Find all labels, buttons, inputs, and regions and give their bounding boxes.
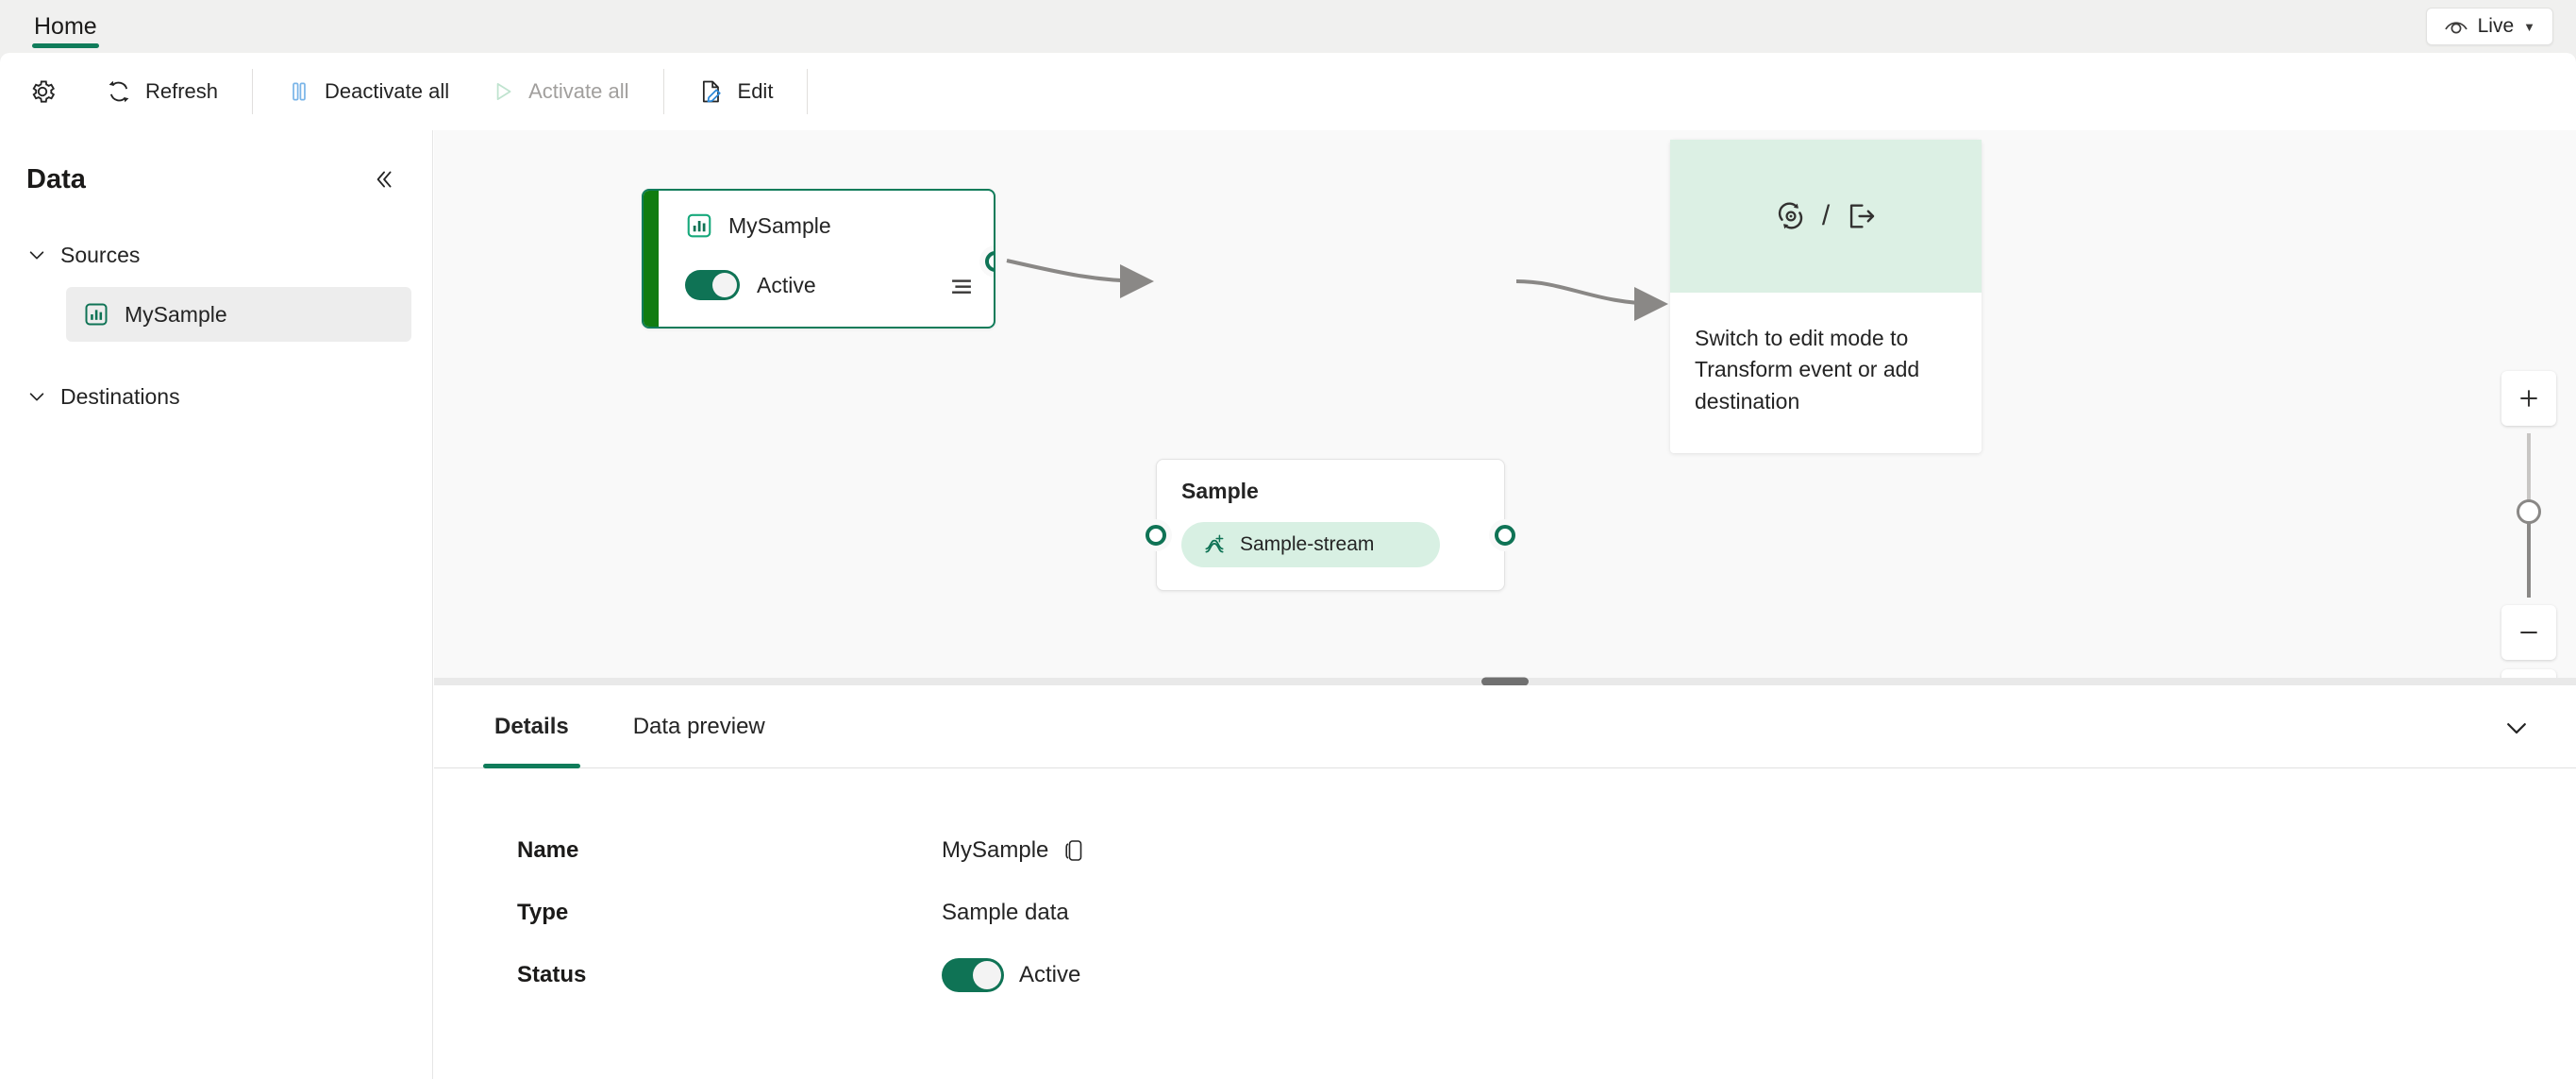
node-placeholder-transform-destination[interactable]: / Switch to edit mode to Transform event… — [1670, 140, 1982, 453]
toggle-knob — [973, 961, 1001, 989]
zoom-out-button[interactable] — [2501, 605, 2556, 660]
copy-icon[interactable] — [1063, 838, 1086, 863]
zoom-slider-thumb[interactable] — [2517, 499, 2541, 524]
detail-value-status-text: Active — [1019, 962, 1080, 988]
node-source-output-port[interactable] — [985, 251, 995, 272]
sample-data-icon — [83, 301, 109, 328]
details-tab-row: Details Data preview — [434, 685, 2576, 768]
detail-row-name: Name MySample — [517, 819, 2576, 882]
chevron-down-icon — [26, 386, 47, 407]
node-stream-output-port[interactable] — [1495, 525, 1515, 546]
chevron-double-left-icon — [371, 167, 395, 192]
body-region: Data Sources — [0, 130, 2576, 1079]
node-source-title-row: MySample — [685, 211, 831, 240]
tab-details-label: Details — [494, 714, 569, 740]
sidebar-item-mysample-label: MySample — [125, 302, 227, 328]
details-field-list: Name MySample Type Sampl — [434, 768, 2576, 1006]
tab-home-label: Home — [34, 13, 97, 41]
destination-icon — [1845, 200, 1877, 232]
zoom-controls — [2501, 371, 2557, 678]
app-root: Home Live ▼ — [0, 0, 2576, 1079]
refresh-label: Refresh — [145, 79, 218, 104]
tab-home[interactable]: Home — [13, 0, 118, 53]
eye-icon — [2444, 17, 2468, 36]
deactivate-all-button[interactable]: Deactivate all — [266, 67, 470, 116]
pause-icon — [287, 79, 311, 104]
node-source-active-toggle[interactable] — [685, 270, 740, 300]
detail-value-name: MySample — [942, 837, 1086, 864]
command-bar-divider-3 — [807, 69, 808, 114]
detail-label-status: Status — [517, 962, 942, 988]
edit-icon — [698, 78, 725, 105]
detail-value-type: Sample data — [942, 900, 1069, 926]
detail-value-name-text: MySample — [942, 837, 1048, 864]
sidebar-title: Data — [26, 164, 86, 195]
tab-data-preview[interactable]: Data preview — [618, 685, 780, 768]
eventstream-canvas[interactable]: MySample Active — [434, 130, 2576, 678]
command-bar-divider-1 — [252, 69, 253, 114]
sidebar-header: Data — [0, 130, 432, 200]
tab-details[interactable]: Details — [479, 685, 584, 768]
sidebar-item-mysample[interactable]: MySample — [66, 287, 411, 342]
node-placeholder-icon-area: / — [1670, 140, 1982, 293]
details-collapse-button[interactable] — [2495, 706, 2538, 750]
command-bar-divider-2 — [663, 69, 664, 114]
transform-icon — [1775, 200, 1807, 232]
tab-data-preview-label: Data preview — [633, 714, 765, 740]
node-source-status-row: Active — [685, 270, 816, 300]
sidebar-group-sources[interactable]: Sources — [0, 232, 432, 278]
live-mode-button[interactable]: Live ▼ — [2426, 8, 2553, 45]
node-source-status-label: Active — [757, 273, 816, 298]
detail-row-type: Type Sample data — [517, 882, 2576, 944]
sidebar-collapse-button[interactable] — [362, 159, 404, 200]
zoom-slider[interactable] — [2501, 426, 2556, 605]
command-bar: Refresh Deactivate all Activate all — [0, 53, 2576, 130]
zoom-in-button[interactable] — [2501, 371, 2556, 426]
node-placeholder-separator: / — [1822, 200, 1830, 232]
tab-strip: Home Live ▼ — [0, 0, 2576, 53]
zoom-slider-track-lower — [2527, 520, 2531, 598]
plus-icon — [2517, 386, 2541, 411]
edge-source-to-stream — [1007, 261, 1146, 281]
sidebar-group-destinations[interactable]: Destinations — [0, 374, 432, 419]
play-icon — [491, 79, 515, 104]
eventstream-icon — [1202, 532, 1227, 557]
detail-label-type: Type — [517, 900, 942, 926]
node-stream-pill[interactable]: Sample-stream — [1181, 522, 1440, 567]
edge-stream-to-placeholder — [1516, 281, 1661, 304]
node-source-menu-button[interactable] — [948, 276, 975, 301]
refresh-icon — [106, 78, 132, 105]
node-status-accent-bar — [644, 191, 659, 327]
activate-all-label: Activate all — [528, 79, 628, 104]
tab-active-underline — [32, 43, 99, 48]
details-tab-underline — [483, 764, 580, 768]
sidebar-group-destinations-label: Destinations — [60, 384, 180, 410]
list-menu-icon — [948, 276, 975, 296]
node-source-title: MySample — [728, 213, 831, 239]
refresh-button[interactable]: Refresh — [85, 67, 239, 116]
activate-all-button[interactable]: Activate all — [470, 67, 649, 116]
sidebar-group-sources-label: Sources — [60, 243, 140, 268]
detail-value-status: Active — [942, 958, 1080, 992]
node-stream-input-port[interactable] — [1146, 525, 1166, 546]
toggle-knob — [712, 273, 737, 297]
node-eventstream-sample[interactable]: Sample Sample-stream — [1156, 459, 1505, 591]
detail-row-status: Status Active — [517, 944, 2576, 1006]
live-mode-label: Live — [2478, 15, 2515, 38]
deactivate-all-label: Deactivate all — [325, 79, 449, 104]
chevron-down-icon — [2502, 714, 2531, 742]
chevron-down-icon — [26, 244, 47, 265]
edit-button[interactable]: Edit — [677, 67, 795, 116]
sample-data-icon — [685, 211, 713, 240]
node-stream-title: Sample — [1181, 479, 1259, 504]
node-source-mysample[interactable]: MySample Active — [642, 189, 995, 329]
node-stream-pill-label: Sample-stream — [1240, 533, 1374, 556]
status-toggle[interactable] — [942, 958, 1004, 992]
chevron-down-icon: ▼ — [2523, 21, 2535, 33]
fit-to-screen-button[interactable] — [2501, 669, 2556, 678]
detail-value-type-text: Sample data — [942, 900, 1069, 926]
data-sidebar: Data Sources — [0, 130, 433, 1079]
edit-label: Edit — [738, 79, 774, 104]
node-placeholder-text: Switch to edit mode to Transform event o… — [1670, 293, 1982, 417]
minus-icon — [2517, 620, 2541, 645]
details-panel: Details Data preview Name — [434, 685, 2576, 1079]
gear-icon — [28, 77, 57, 106]
detail-label-name: Name — [517, 837, 942, 864]
settings-button[interactable] — [13, 67, 85, 116]
